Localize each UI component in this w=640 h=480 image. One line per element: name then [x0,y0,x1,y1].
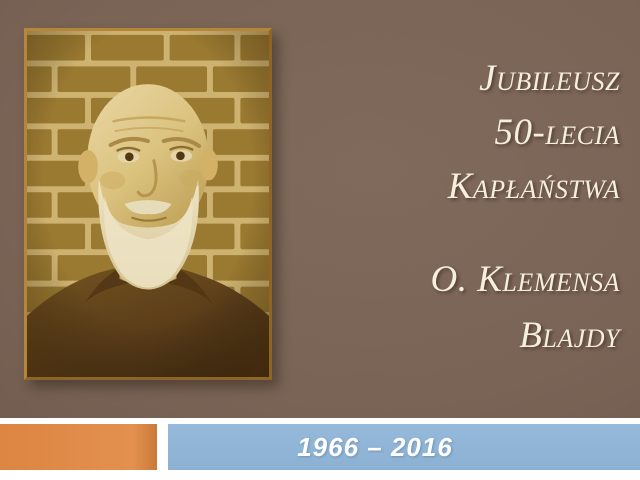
title-line-3: Kapłaństwa [260,160,620,214]
portrait-illustration [27,31,269,377]
presentation-slide: Jubileusz 50-lecia Kapłaństwa O. Klemens… [0,0,640,480]
honoree-line-2: Blajdy [240,308,620,364]
title-line-1: Jubileusz [260,52,620,106]
portrait-photo [24,28,272,380]
footer-accent-block [0,424,157,470]
footer-date-bar: 1966 – 2016 [168,424,640,470]
honoree-name: O. Klemensa Blajdy [240,252,620,364]
title-line-2: 50-lecia [260,106,620,160]
date-range-text: 1966 – 2016 [297,432,453,463]
honoree-line-1: O. Klemensa [240,252,620,308]
slide-title: Jubileusz 50-lecia Kapłaństwa [260,52,620,214]
portrait-photo-frame [24,28,272,380]
